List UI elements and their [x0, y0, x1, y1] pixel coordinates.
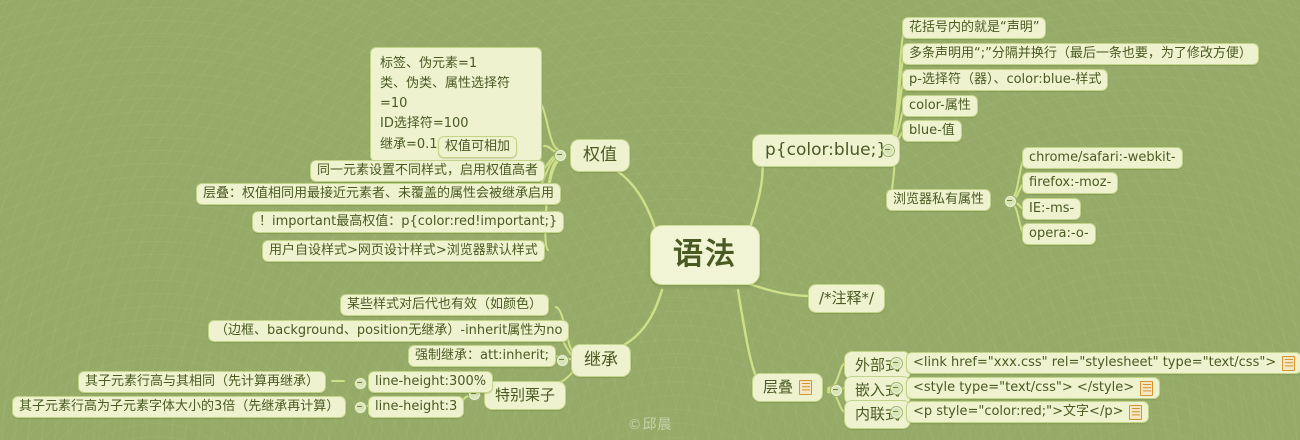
declaration-child-braces[interactable]: 花括号内的就是“声明” — [902, 17, 1046, 39]
weight-child-same-element[interactable]: 同一元素设置不同样式，启用权值高者 — [310, 160, 545, 182]
note-icon — [799, 380, 812, 395]
weight-child-cascade-rule[interactable]: 层叠：权值相同用最接近元素者、未覆盖的属性会被继承启用 — [196, 183, 561, 205]
toggle-line-height-number[interactable] — [354, 401, 367, 414]
root-node[interactable]: 语法 — [650, 225, 760, 285]
cascade-embedded-code[interactable]: <style type="text/css"> </style> — [906, 377, 1160, 399]
note-icon — [1282, 356, 1295, 371]
inherit-child-no-inherit[interactable]: （边框、background、position无继承）-inherit属性为no — [208, 320, 569, 342]
vendor-moz[interactable]: firefox:-moz- — [1022, 172, 1118, 194]
toggle-external[interactable] — [890, 357, 903, 370]
inherit-child-descendants[interactable]: 某些样式对后代也有效（如颜色） — [340, 294, 549, 316]
vendor-ms[interactable]: IE:-ms- — [1022, 198, 1081, 220]
note-icon — [1140, 381, 1153, 396]
inherit-child-force-inherit[interactable]: 强制继承：att:inherit; — [408, 345, 556, 367]
declaration-child-property[interactable]: color-属性 — [902, 95, 978, 117]
embedded-code-text: <style type="text/css"> </style> — [913, 380, 1134, 396]
branch-node-cascade[interactable]: 层叠 — [752, 373, 823, 402]
branch-node-comment[interactable]: /*注释*/ — [808, 284, 885, 313]
vendor-prefix-node[interactable]: 浏览器私有属性 — [886, 189, 991, 211]
branch-node-weight[interactable]: 权值 — [570, 139, 630, 172]
toggle-inherit[interactable] — [556, 354, 569, 367]
cascade-external-code[interactable]: <link href="xxx.css" rel="stylesheet" ty… — [906, 352, 1300, 374]
vendor-opera[interactable]: opera:-o- — [1022, 223, 1096, 245]
inherit-example-node[interactable]: 特别栗子 — [484, 381, 566, 410]
weight-child-priority-order[interactable]: 用户自设样式>网页设计样式>浏览器默认样式 — [262, 240, 545, 262]
line-height-percent-node[interactable]: line-height:300% — [368, 371, 493, 393]
declaration-child-selector[interactable]: p-选择符（器）、color:blue-样式 — [902, 69, 1108, 91]
toggle-weight[interactable] — [554, 149, 567, 162]
toggle-line-height-percent[interactable] — [354, 377, 367, 390]
toggle-vendor-prefix[interactable] — [1004, 195, 1017, 208]
toggle-embedded[interactable] — [890, 382, 903, 395]
declaration-child-separator[interactable]: 多条声明用“;”分隔并换行（最后一条也要，为了修改方便） — [902, 43, 1259, 65]
toggle-declaration[interactable] — [882, 144, 895, 157]
declaration-child-value[interactable]: blue-值 — [902, 120, 962, 142]
toggle-cascade[interactable] — [830, 384, 843, 397]
line-height-percent-desc[interactable]: 其子元素行高与其相同（先计算再继承） — [78, 371, 326, 393]
weight-child-additive[interactable]: 权值可相加 — [438, 136, 517, 158]
branch-node-inherit[interactable]: 继承 — [571, 344, 631, 377]
cascade-label: 层叠 — [763, 378, 793, 397]
weight-child-important[interactable]: ！important最高权值：p{color:red!important;} — [252, 211, 564, 233]
external-code-text: <link href="xxx.css" rel="stylesheet" ty… — [913, 355, 1276, 371]
branch-node-declaration[interactable]: p{color:blue;} — [752, 134, 900, 167]
mindmap-canvas: 语法 权值 标签、伪元素=1 类、伪类、属性选择符=10 ID选择符=100 继… — [0, 0, 1300, 440]
watermark: ©邱晨 — [0, 414, 1300, 434]
vendor-webkit[interactable]: chrome/safari:-webkit- — [1022, 147, 1183, 169]
